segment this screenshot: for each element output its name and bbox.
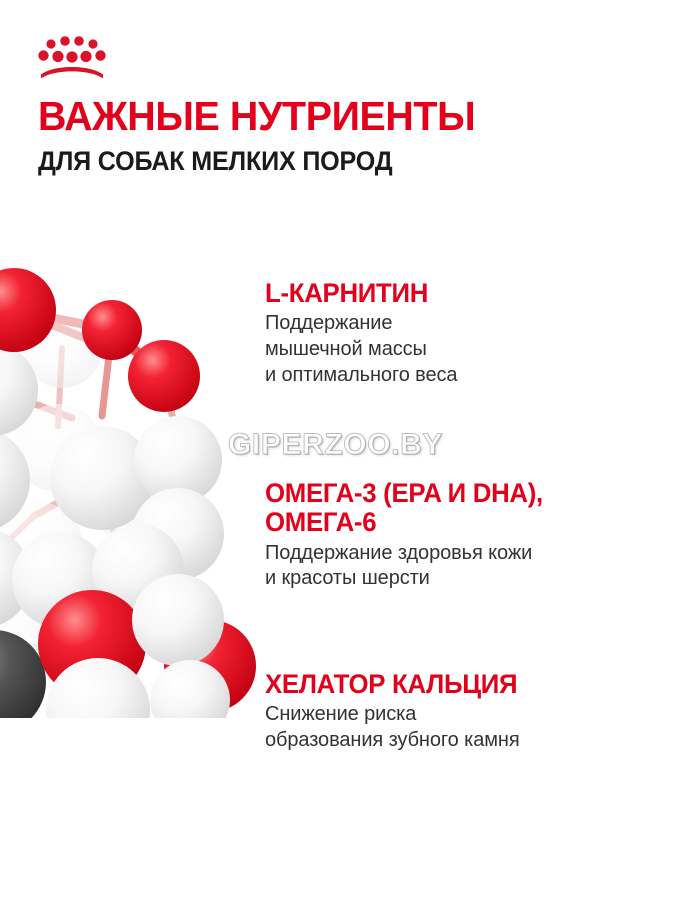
nutrient-block-calcium-chelator: ХЕЛАТОР КАЛЬЦИЯ Снижение риска образован…: [265, 670, 675, 754]
nutrient-description: Поддержание здоровья кожи и красоты шерс…: [265, 541, 675, 592]
page-subtitle: ДЛЯ СОБАК МЕЛКИХ ПОРОД: [38, 147, 596, 175]
poster-canvas: ВАЖНЫЕ НУТРИЕНТЫ ДЛЯ СОБАК МЕЛКИХ ПОРОД: [0, 0, 675, 900]
nutrient-block-omega: ОМЕГА-3 (EPA И DHA), ОМЕГА-6 Поддержание…: [265, 479, 675, 592]
description-line: и оптимального веса: [265, 363, 675, 389]
description-line: мышечной массы: [265, 337, 675, 363]
description-line: Поддержание: [265, 311, 675, 337]
description-line: Поддержание здоровья кожи: [265, 541, 675, 567]
watermark-text: GIPERZOO.BY: [228, 428, 443, 462]
nutrient-heading-line: ОМЕГА-3 (EPA И DHA),: [265, 479, 657, 508]
nutrient-description: Поддержание мышечной массы и оптимальног…: [265, 311, 675, 388]
royal-canin-crown-icon: [36, 33, 108, 79]
nutrient-heading-line: ОМЕГА-6: [265, 508, 657, 537]
description-line: Снижение риска: [265, 702, 675, 728]
page-title: ВАЖНЫЕ НУТРИЕНТЫ: [38, 96, 614, 138]
nutrient-heading: ОМЕГА-3 (EPA И DHA), ОМЕГА-6: [265, 479, 657, 538]
page-title-block: ВАЖНЫЕ НУТРИЕНТЫ ДЛЯ СОБАК МЕЛКИХ ПОРОД: [38, 96, 638, 175]
nutrient-heading: L-КАРНИТИН: [265, 279, 657, 308]
molecule-model-illustration: [0, 248, 272, 718]
description-line: образования зубного камня: [265, 728, 675, 754]
description-line: и красоты шерсти: [265, 566, 675, 592]
nutrient-description: Снижение риска образования зубного камня: [265, 702, 675, 753]
nutrient-block-l-carnitine: L-КАРНИТИН Поддержание мышечной массы и …: [265, 279, 675, 388]
nutrient-heading: ХЕЛАТОР КАЛЬЦИЯ: [265, 670, 657, 699]
